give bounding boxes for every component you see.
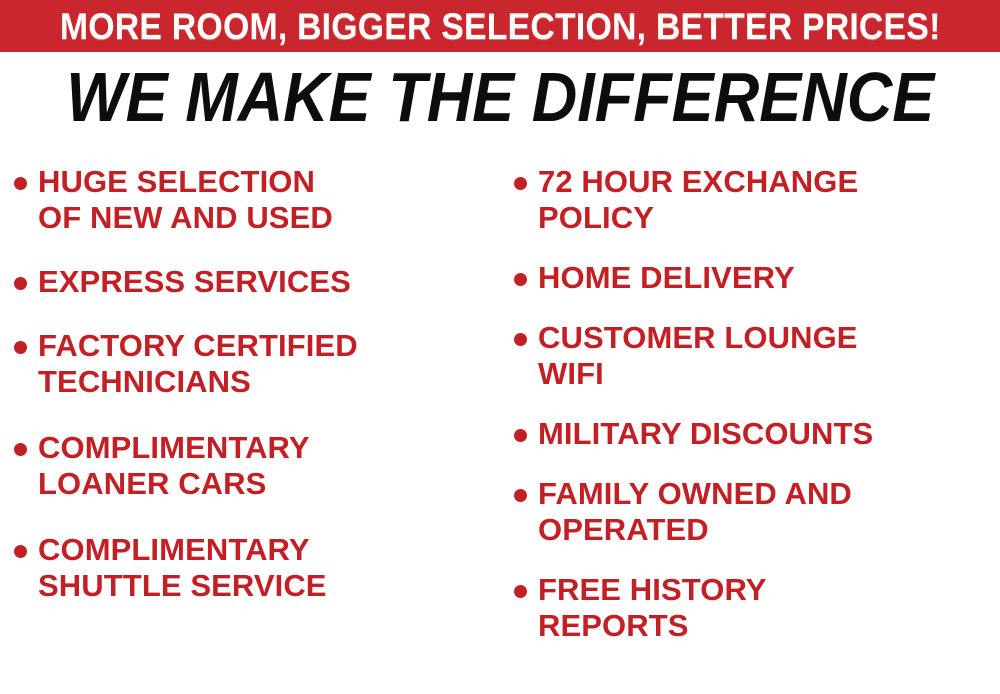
bullet-dot-icon (14, 443, 27, 456)
list-item-label: FAMILY OWNED AND OPERATED (538, 476, 852, 548)
list-item-label: 72 HOUR EXCHANGE POLICY (538, 164, 858, 236)
main-headline: WE MAKE THE DIFFERENCE (0, 60, 1000, 134)
bullet-dot-icon (14, 341, 27, 354)
bullet-dot-icon (14, 277, 27, 290)
list-item: COMPLIMENTARY LOANER CARS (14, 430, 500, 502)
bullet-dot-icon (14, 177, 27, 190)
list-item-label: HUGE SELECTION OF NEW AND USED (38, 164, 333, 236)
list-item-label: COMPLIMENTARY LOANER CARS (38, 430, 310, 502)
bullet-dot-icon (514, 273, 527, 286)
list-item: FREE HISTORY REPORTS (514, 572, 1000, 644)
list-item: CUSTOMER LOUNGE WIFI (514, 320, 1000, 392)
list-item-label: FREE HISTORY REPORTS (538, 572, 767, 644)
list-item: EXPRESS SERVICES (14, 264, 500, 300)
page-title: WE MAKE THE DIFFERENCE (66, 60, 934, 134)
benefits-column-left: HUGE SELECTION OF NEW AND USED EXPRESS S… (0, 158, 500, 604)
list-item: FACTORY CERTIFIED TECHNICIANS (14, 328, 500, 400)
bullet-dot-icon (514, 429, 527, 442)
list-item-label: MILITARY DISCOUNTS (538, 416, 873, 452)
list-item: HUGE SELECTION OF NEW AND USED (14, 164, 500, 236)
list-item-label: COMPLIMENTARY SHUTTLE SERVICE (38, 532, 327, 604)
list-item: MILITARY DISCOUNTS (514, 416, 1000, 452)
promo-poster: MORE ROOM, BIGGER SELECTION, BETTER PRIC… (0, 0, 1000, 694)
list-item: HOME DELIVERY (514, 260, 1000, 296)
list-item: FAMILY OWNED AND OPERATED (514, 476, 1000, 548)
bullet-dot-icon (514, 177, 527, 190)
bullet-dot-icon (14, 545, 27, 558)
list-item: 72 HOUR EXCHANGE POLICY (514, 164, 1000, 236)
list-item-label: HOME DELIVERY (538, 260, 795, 296)
bullet-dot-icon (514, 333, 527, 346)
benefits-column-right: 72 HOUR EXCHANGE POLICY HOME DELIVERY CU… (500, 158, 1000, 644)
banner-headline-text: MORE ROOM, BIGGER SELECTION, BETTER PRIC… (60, 8, 941, 45)
bullet-dot-icon (514, 585, 527, 598)
list-item: COMPLIMENTARY SHUTTLE SERVICE (14, 532, 500, 604)
benefits-columns: HUGE SELECTION OF NEW AND USED EXPRESS S… (0, 158, 1000, 694)
bullet-dot-icon (514, 489, 527, 502)
list-item-label: EXPRESS SERVICES (38, 264, 351, 300)
list-item-label: CUSTOMER LOUNGE WIFI (538, 320, 858, 392)
top-banner: MORE ROOM, BIGGER SELECTION, BETTER PRIC… (0, 0, 1000, 52)
list-item-label: FACTORY CERTIFIED TECHNICIANS (38, 328, 358, 400)
